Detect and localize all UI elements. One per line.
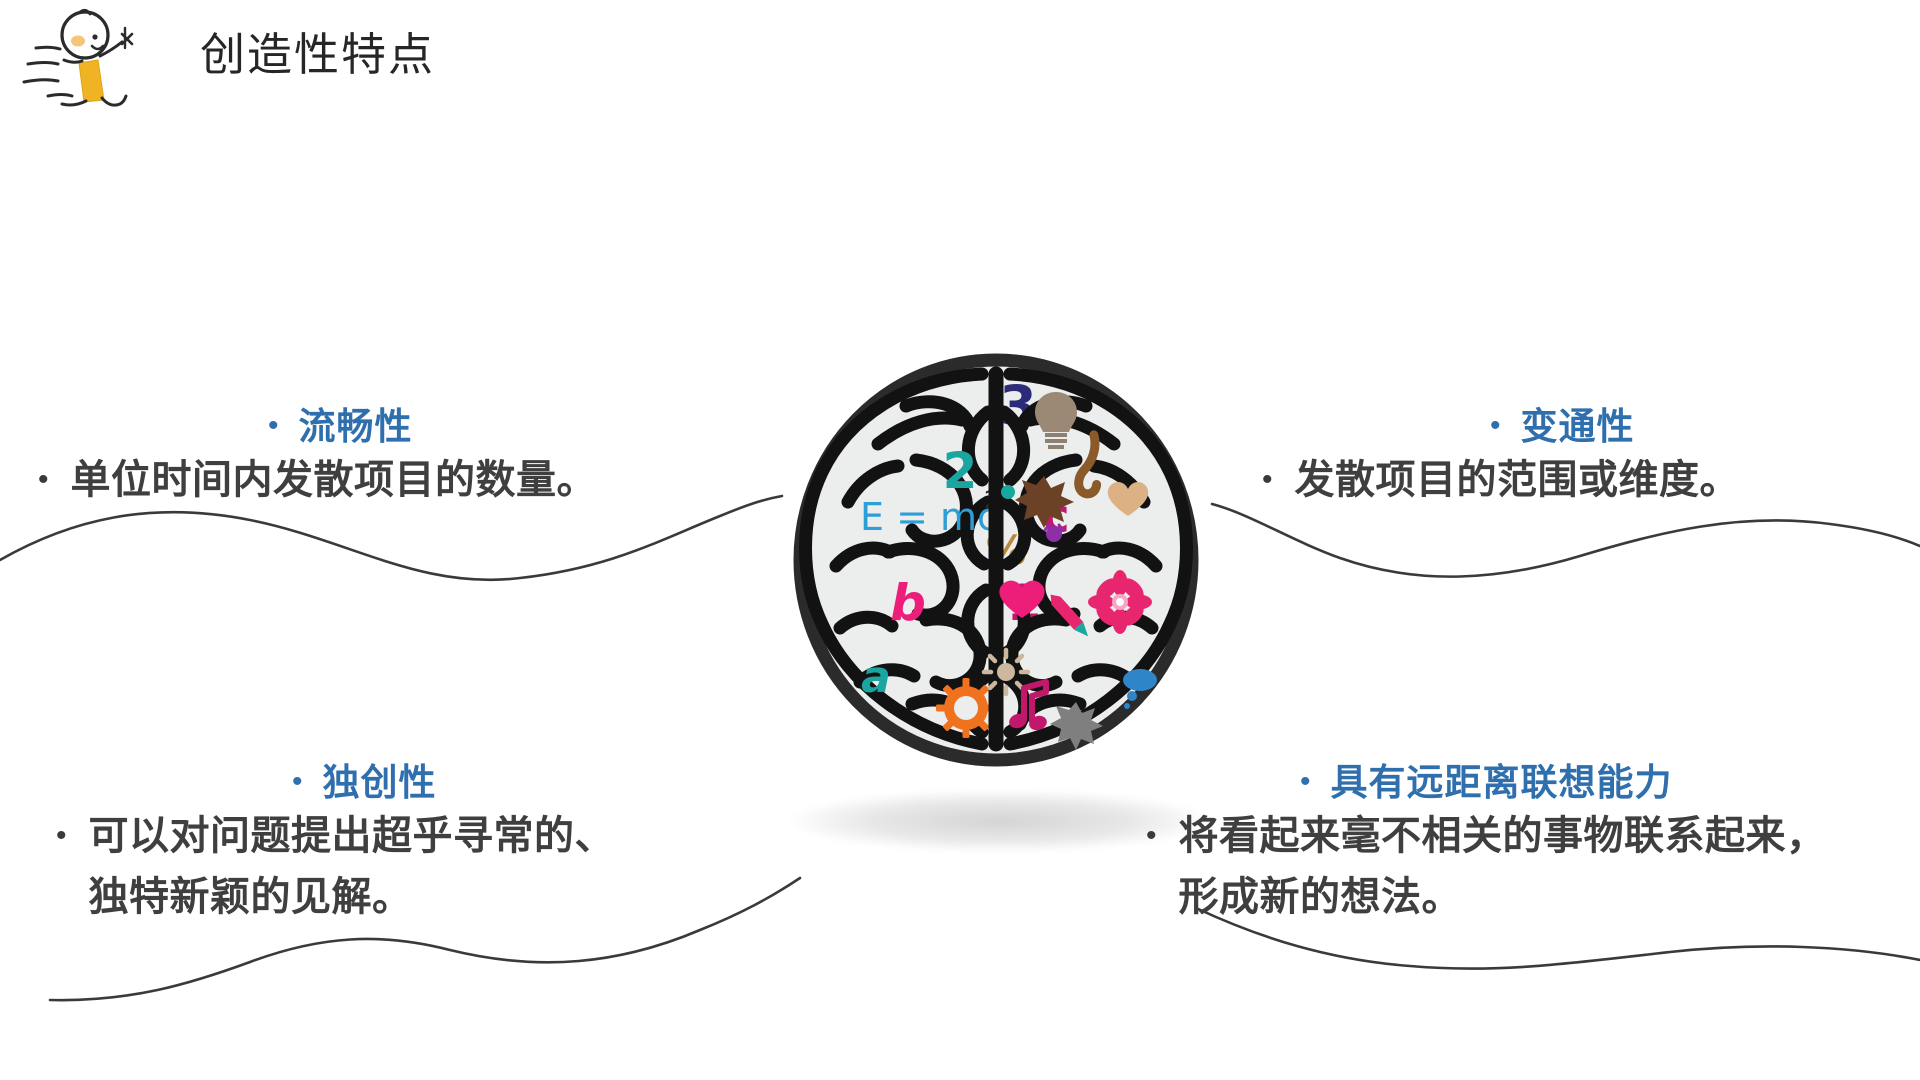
association-body-bullet: • <box>1146 821 1157 851</box>
dot-teal-icon <box>1001 485 1015 499</box>
slide-canvas: 创造性特点 <box>0 0 1920 1080</box>
association-body-line-2: 形成新的想法。 <box>1179 867 1827 928</box>
fluency-bullet: • <box>268 411 279 441</box>
originality-body-bullet: • <box>56 821 67 851</box>
slide-header: 创造性特点 <box>0 0 760 120</box>
association-heading-row: • 具有远距离联想能力 <box>1300 752 1827 806</box>
association-body-row: • 将看起来毫不相关的事物联系起来， 形成新的想法。 <box>1146 806 1827 928</box>
split-brain-illustration: 3 2 c % b 1 a E = mc 2 <box>756 352 1236 772</box>
feature-block-fluency: • 流畅性 • 单位时间内发散项目的数量。 <box>38 396 597 511</box>
feature-block-flexibility: • 变通性 • 发散项目的范围或维度。 <box>1262 396 1740 511</box>
numeral-two: 2 <box>943 442 978 500</box>
originality-body-line-1: 可以对问题提出超乎寻常的、 <box>89 806 616 867</box>
svg-text:E = mc: E = mc <box>860 495 998 539</box>
letter-a: a <box>861 652 891 703</box>
letter-b: b <box>890 574 926 632</box>
running-stick-figure-doodle <box>22 8 162 108</box>
flexibility-body-row: • 发散项目的范围或维度。 <box>1262 450 1740 511</box>
flexibility-heading: 变通性 <box>1521 396 1635 450</box>
fluency-body-line-1: 单位时间内发散项目的数量。 <box>71 450 598 511</box>
originality-bullet: • <box>292 767 303 797</box>
flexibility-body-line-1: 发散项目的范围或维度。 <box>1295 450 1741 511</box>
fluency-body-bullet: • <box>38 465 49 495</box>
flexibility-heading-row: • 变通性 <box>1490 396 1740 450</box>
fluency-body-row: • 单位时间内发散项目的数量。 <box>38 450 597 511</box>
page-title: 创造性特点 <box>200 18 435 83</box>
flexibility-body-bullet: • <box>1262 465 1273 495</box>
originality-body-line-2: 独特新颖的见解。 <box>89 867 616 928</box>
association-body-line-1: 将看起来毫不相关的事物联系起来， <box>1179 806 1827 867</box>
feature-block-association: • 具有远距离联想能力 • 将看起来毫不相关的事物联系起来， 形成新的想法。 <box>1146 752 1827 928</box>
association-bullet: • <box>1300 767 1311 797</box>
originality-body-lines: 可以对问题提出超乎寻常的、 独特新颖的见解。 <box>89 806 616 928</box>
association-body-lines: 将看起来毫不相关的事物联系起来， 形成新的想法。 <box>1179 806 1827 928</box>
association-heading: 具有远距离联想能力 <box>1331 752 1673 806</box>
flexibility-bullet: • <box>1490 411 1501 441</box>
feature-block-originality: • 独创性 • 可以对问题提出超乎寻常的、 独特新颖的见解。 <box>56 752 615 928</box>
gear-icon <box>936 678 996 738</box>
originality-heading: 独创性 <box>323 752 437 806</box>
fluency-heading: 流畅性 <box>299 396 413 450</box>
originality-heading-row: • 独创性 <box>292 752 615 806</box>
flexibility-body-lines: 发散项目的范围或维度。 <box>1295 450 1741 511</box>
originality-body-row: • 可以对问题提出超乎寻常的、 独特新颖的见解。 <box>56 806 615 928</box>
fluency-heading-row: • 流畅性 <box>268 396 597 450</box>
connector-upper-right <box>1212 504 1920 577</box>
fluency-body-lines: 单位时间内发散项目的数量。 <box>71 450 598 511</box>
